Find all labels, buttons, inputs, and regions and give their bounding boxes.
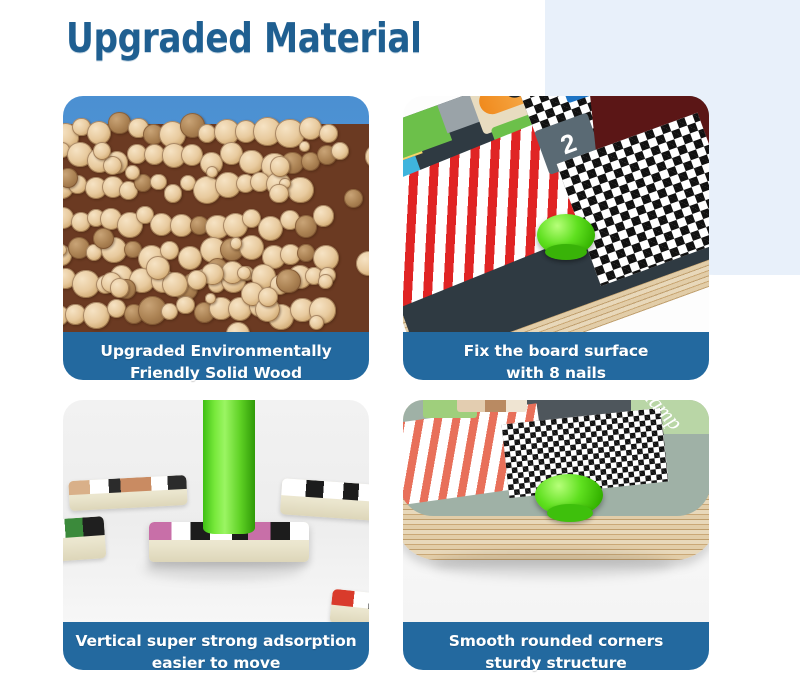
log-end [313, 205, 335, 227]
photo-board-corner-nail: START 2 Champion [403, 96, 709, 332]
photo-stacked-logs [63, 96, 369, 332]
log-end [239, 150, 264, 175]
log-end-filler [230, 237, 243, 250]
caption-line-2: with 8 nails [409, 362, 703, 384]
caption-corners: Smooth rounded corners sturdy structure [403, 622, 709, 670]
green-nail-base [545, 244, 587, 260]
caption-line-2: easier to move [69, 652, 363, 674]
caption-line-1: Smooth rounded corners [409, 630, 703, 652]
log-end-filler [365, 144, 369, 169]
caption-line-2: sturdy structure [409, 652, 703, 674]
log-end-filler [205, 293, 216, 304]
board-tile-photo [457, 400, 527, 412]
tile-face-art [331, 589, 369, 611]
caption-line-1: Upgraded Environmentally [69, 340, 363, 362]
log-pile [63, 124, 369, 332]
caption-nails: Fix the board surface with 8 nails [403, 332, 709, 380]
caption-line-1: Vertical super strong adsorption [69, 630, 363, 652]
caption-adsorption: Vertical super strong adsorption easier … [63, 622, 369, 670]
log-end [299, 117, 322, 140]
board-ground-shadow [433, 552, 673, 578]
feature-card-wood: Upgraded Environmentally Friendly Solid … [63, 96, 369, 380]
log-end [164, 184, 182, 202]
domino-tile-left-far [63, 516, 106, 562]
log-end-filler [187, 270, 207, 290]
log-end-filler [356, 251, 369, 276]
log-end [178, 246, 202, 270]
log-end [108, 112, 131, 135]
photo-magnet-lifting-tile [63, 400, 369, 622]
domino-tile-bottom-right [329, 589, 369, 622]
log-end [287, 177, 314, 204]
log-end [176, 296, 195, 315]
feature-card-nails: START 2 Champion Fix the board surface w… [403, 96, 709, 380]
domino-tile-upper-left [68, 475, 187, 511]
log-end-filler [276, 269, 301, 294]
log-end [331, 142, 349, 160]
log-end-filler [344, 189, 363, 208]
photo-rounded-corner: Champ [403, 400, 709, 622]
log-end-filler [125, 165, 140, 180]
green-knob-base [547, 504, 593, 522]
board-scene: START 2 Champion [403, 96, 709, 332]
log-end-filler [318, 274, 333, 289]
log-end-filler [93, 228, 114, 249]
tile-face-art [63, 516, 105, 539]
log-end-filler [110, 278, 129, 297]
caption-line-2: Friendly Solid Wood [69, 362, 363, 384]
log-end-filler [146, 256, 170, 280]
log-end [258, 216, 283, 241]
feature-card-corners: Champ Smooth rounded corners sturdy stru… [403, 400, 709, 670]
log-end [319, 124, 338, 143]
page-title: Upgraded Material [66, 14, 422, 62]
log-end-filler [299, 141, 309, 151]
feature-card-adsorption: Vertical super strong adsorption easier … [63, 400, 369, 670]
caption-line-1: Fix the board surface [409, 340, 703, 362]
green-magnet-rod [203, 400, 255, 534]
log-end-filler [270, 156, 291, 177]
log-end-filler [309, 315, 325, 331]
caption-wood: Upgraded Environmentally Friendly Solid … [63, 332, 369, 380]
log-end [83, 302, 110, 329]
log-end [239, 235, 264, 260]
log-end-filler [269, 184, 289, 204]
log-end-filler [93, 142, 111, 160]
log-end-filler [226, 322, 250, 332]
